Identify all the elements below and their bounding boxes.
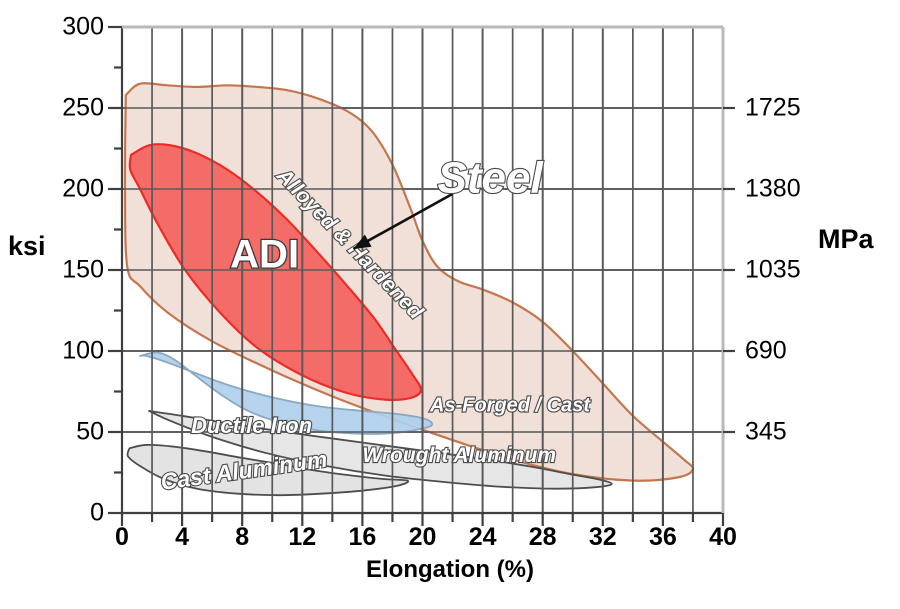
x-axis-tick-label: 28 bbox=[529, 523, 557, 552]
x-axis-tick-label: 36 bbox=[649, 523, 677, 552]
y-axis-tick-label-right: 345 bbox=[745, 418, 787, 447]
y-axis-tick-label-right: 1725 bbox=[745, 94, 801, 123]
y-axis-tick-label-left: 0 bbox=[18, 499, 104, 528]
wrought-aluminum-label: Wrought Aluminum bbox=[362, 444, 556, 467]
x-axis-tick-label: 40 bbox=[709, 523, 737, 552]
ductile-iron-label: Ductile Iron bbox=[191, 413, 312, 438]
x-axis-tick-label: 12 bbox=[288, 523, 316, 552]
x-axis-tick-label: 0 bbox=[115, 523, 129, 552]
y-axis-tick-label-left: 50 bbox=[18, 418, 104, 447]
y-axis-tick-label-left: 200 bbox=[18, 175, 104, 204]
y-axis-tick-label-left: 250 bbox=[18, 94, 104, 123]
y-axis-tick-label-right: 1035 bbox=[745, 256, 801, 285]
x-axis-tick-label: 20 bbox=[409, 523, 437, 552]
gridlines-overlay bbox=[122, 27, 723, 513]
as-forged-cast-label: As-Forged / Cast bbox=[429, 394, 591, 416]
adi-label: ADI bbox=[230, 233, 299, 277]
x-axis-tick-label: 32 bbox=[589, 523, 617, 552]
x-axis-tick-label: 4 bbox=[175, 523, 189, 552]
x-axis-tick-label: 8 bbox=[235, 523, 249, 552]
y-axis-tick-label-left: 150 bbox=[18, 256, 104, 285]
chart-canvas: ksi MPa Elongation (%) ADIAlloyed & Hard… bbox=[0, 0, 900, 609]
y-axis-tick-label-left: 300 bbox=[18, 13, 104, 42]
plot-area: ADIAlloyed & HardenedAs-Forged / CastDuc… bbox=[0, 0, 900, 609]
y-axis-tick-label-left: 100 bbox=[18, 337, 104, 366]
x-axis-tick-label: 16 bbox=[348, 523, 376, 552]
y-axis-tick-label-right: 690 bbox=[745, 337, 787, 366]
steel-callout-text: Steel bbox=[438, 154, 544, 203]
y-axis-tick-label-right: 1380 bbox=[745, 175, 801, 204]
x-axis-tick-label: 24 bbox=[469, 523, 497, 552]
